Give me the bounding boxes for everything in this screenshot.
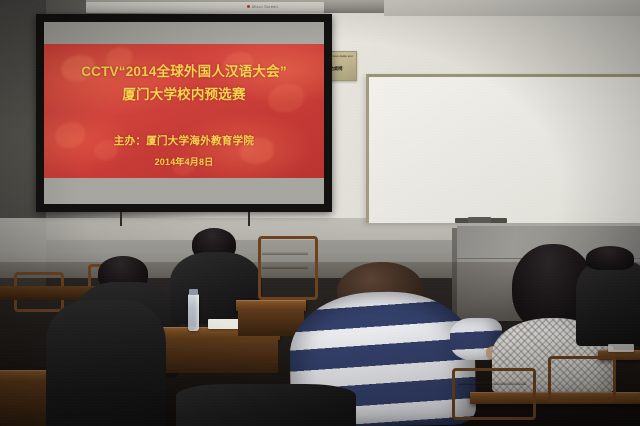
slide-date: 2014年4月8日 (155, 155, 214, 168)
screen-brand-text: Micro Screen (252, 4, 278, 9)
student-back-right-jacket (576, 262, 640, 346)
desk-row-middle-apron (152, 339, 278, 373)
screen-brand-logo: Micro Screen (247, 3, 293, 10)
chair-slat (262, 266, 308, 269)
chair-backrest (452, 368, 536, 420)
slide-organizer: 主办：厦门大学海外教育学院 (114, 133, 254, 148)
water-bottle (188, 294, 199, 331)
projection-screen-frame: CCTV“2014全球外国人汉语大会” 厦门大学校内预选赛 主办：厦门大学海外教… (36, 14, 332, 212)
chair-slat (262, 252, 308, 255)
student-back-right-hair (586, 246, 634, 270)
water-bottle-cap (189, 289, 198, 295)
presentation-slide: CCTV“2014全球外国人汉语大会” 厦门大学校内预选赛 主办：厦门大学海外教… (44, 44, 324, 178)
brand-dot-icon (247, 5, 250, 8)
screen-support-cables (120, 212, 250, 226)
whiteboard (366, 74, 640, 223)
student-front-left-lower (46, 300, 166, 426)
lectern-top-device (468, 217, 491, 223)
slide-text-block: CCTV“2014全球外国人汉语大会” 厦门大学校内预选赛 主办：厦门大学海外教… (44, 44, 324, 178)
slide-title-line2: 厦门大学校内预选赛 (122, 83, 245, 103)
foreground-silhouette (176, 384, 356, 426)
slide-title-line1: CCTV“2014全球外国人汉语大会” (81, 60, 287, 80)
desk-row-right-apron (238, 310, 304, 336)
chair-backrest (548, 356, 616, 402)
ceiling-strip-right (384, 0, 640, 16)
paper-sheet (608, 344, 634, 352)
chair-slat (458, 382, 526, 385)
projection-screen-surface: CCTV“2014全球外国人汉语大会” 厦门大学校内预选赛 主办：厦门大学海外教… (44, 22, 324, 204)
classroom-photo: Please don't move desks and chairs 请勿移动桌… (0, 0, 640, 426)
